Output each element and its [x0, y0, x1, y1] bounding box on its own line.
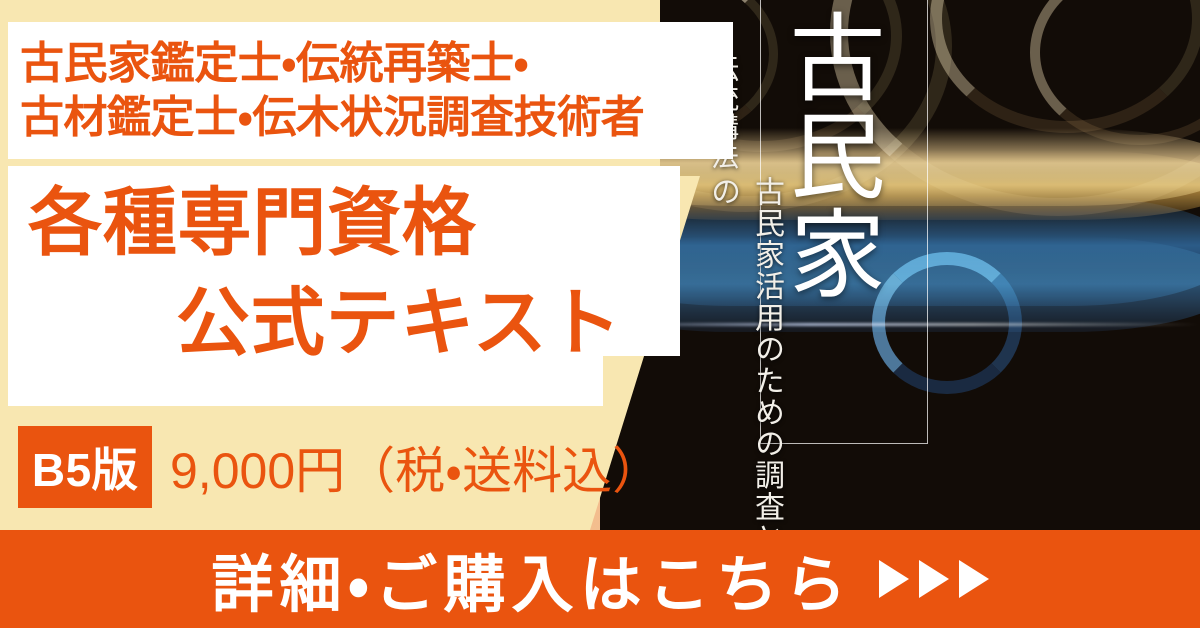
headline-line-1: 古民家鑑定士・伝統再築士・	[20, 37, 733, 91]
triangle-right-icon	[879, 560, 909, 598]
main-copy: 各種専門資格 公式テキスト	[8, 170, 680, 402]
triangle-right-icon	[959, 560, 989, 598]
triangle-right-icon	[919, 560, 949, 598]
price-row: B5版 9,000円（税・送料込）	[18, 426, 662, 508]
cover-title: 古民家	[800, 8, 892, 302]
cta-bar[interactable]: 詳細・ご購入はこちら	[0, 530, 1200, 628]
price-amount: 9,000円（税・送料込）	[170, 431, 662, 503]
main-copy-line-1: 各種専門資格	[28, 176, 476, 269]
size-badge: B5版	[18, 426, 152, 508]
main-copy-line-2: 公式テキスト	[176, 276, 622, 369]
cta-label: 詳細・ご購入はこちら	[211, 534, 852, 624]
headline-line-2: 古材鑑定士・伝木状況調査技術者	[20, 91, 733, 145]
promo-banner: 古民家 伝統構法 古民家活用のための調査と再生の 古民家鑑定士・伝統再築士・ 古…	[0, 0, 1200, 628]
cta-arrow-group	[879, 560, 989, 598]
headline: 古民家鑑定士・伝統再築士・ 古材鑑定士・伝木状況調査技術者	[8, 22, 733, 159]
